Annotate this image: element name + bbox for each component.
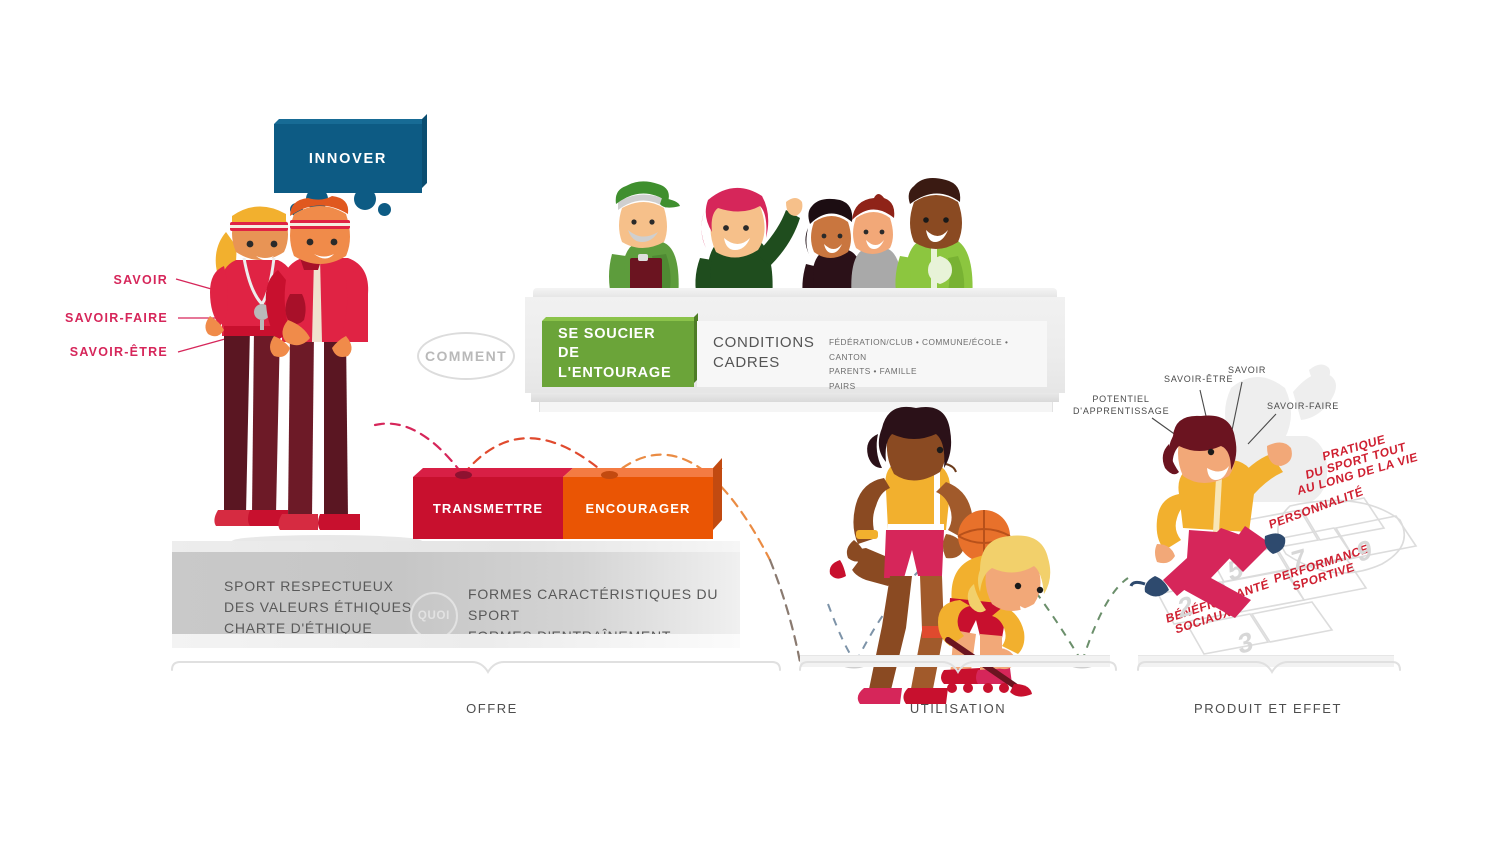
- phase-label-utilisation: UTILISATION: [858, 701, 1058, 716]
- phase-label-produit-effet: PRODUIT ET EFFET: [1168, 701, 1368, 716]
- phase-brackets: [0, 0, 1500, 844]
- infographic-canvas: INNOVER SAVOIR SAVOIR-FAIRE SAVOIR-ÊTRE: [0, 0, 1500, 844]
- phase-label-offre: OFFRE: [392, 701, 592, 716]
